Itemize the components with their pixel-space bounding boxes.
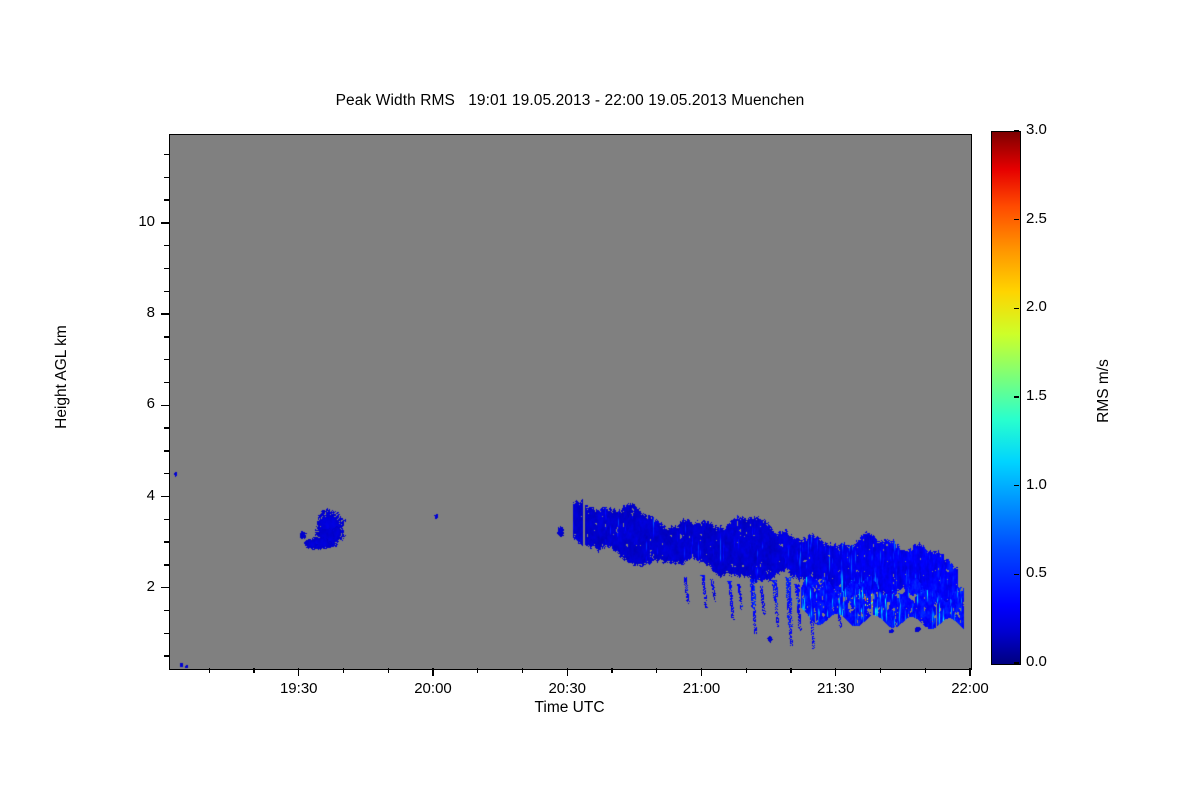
- x-tick: [209, 668, 210, 673]
- y-tick: [161, 222, 169, 223]
- x-tick: [925, 668, 926, 673]
- x-tick: [343, 668, 344, 673]
- y-tick: [164, 655, 169, 656]
- colorbar-tick: [1014, 130, 1019, 131]
- colorbar-tick-label: 2.0: [1026, 298, 1047, 315]
- x-tick: [522, 668, 523, 673]
- page-title: Peak Width RMS 19:01 19.05.2013 - 22:00 …: [0, 92, 1140, 110]
- x-tick: [746, 668, 747, 673]
- y-tick: [164, 359, 169, 360]
- x-tick: [969, 668, 970, 676]
- y-tick: [164, 473, 169, 474]
- x-tick-label: 20:00: [388, 680, 478, 697]
- colorbar-tick-label: 0.0: [1026, 653, 1047, 670]
- x-tick-label: 20:30: [522, 680, 612, 697]
- x-axis-label: Time UTC: [169, 699, 970, 717]
- x-tick: [790, 668, 791, 673]
- plot-area[interactable]: [169, 134, 972, 670]
- colorbar-tick: [1014, 662, 1019, 663]
- y-tick: [164, 177, 169, 178]
- y-tick-label: 2: [109, 578, 155, 595]
- colorbar-tick: [1014, 396, 1019, 397]
- y-tick: [164, 450, 169, 451]
- y-tick: [164, 541, 169, 542]
- y-tick: [164, 564, 169, 565]
- y-tick-label: 10: [109, 213, 155, 230]
- y-tick-label: 6: [109, 395, 155, 412]
- y-tick: [164, 382, 169, 383]
- x-tick-label: 21:30: [791, 680, 881, 697]
- y-axis-label: Height AGL km: [53, 257, 71, 497]
- y-tick: [161, 496, 169, 497]
- y-tick: [164, 268, 169, 269]
- x-tick: [432, 668, 433, 676]
- y-tick: [164, 633, 169, 634]
- x-tick-label: 19:30: [254, 680, 344, 697]
- y-tick: [161, 313, 169, 314]
- y-tick: [164, 199, 169, 200]
- radar-heatmap-image: [170, 135, 971, 669]
- x-tick: [611, 668, 612, 673]
- x-tick: [477, 668, 478, 673]
- colorbar-tick-label: 3.0: [1026, 121, 1047, 138]
- y-tick-label: 8: [109, 304, 155, 321]
- colorbar-tick: [1014, 308, 1019, 309]
- y-tick: [164, 154, 169, 155]
- x-tick: [567, 668, 568, 676]
- colorbar-tick-label: 2.5: [1026, 210, 1047, 227]
- x-tick: [388, 668, 389, 673]
- x-tick-label: 22:00: [925, 680, 1015, 697]
- y-tick-label: 4: [109, 487, 155, 504]
- colorbar-tick: [1014, 485, 1019, 486]
- y-tick: [164, 245, 169, 246]
- x-tick: [701, 668, 702, 676]
- x-tick: [253, 668, 254, 673]
- colorbar-tick: [1014, 574, 1019, 575]
- y-tick: [164, 291, 169, 292]
- figure-canvas: Peak Width RMS 19:01 19.05.2013 - 22:00 …: [0, 0, 1200, 800]
- x-tick: [656, 668, 657, 673]
- colorbar-tick-label: 1.0: [1026, 476, 1047, 493]
- y-tick: [164, 336, 169, 337]
- colorbar-tick: [1014, 219, 1019, 220]
- colorbar-tick-label: 0.5: [1026, 564, 1047, 581]
- colorbar-tick-label: 1.5: [1026, 387, 1047, 404]
- y-tick: [164, 427, 169, 428]
- y-tick: [164, 610, 169, 611]
- y-tick: [164, 519, 169, 520]
- x-tick: [835, 668, 836, 676]
- colorbar-gradient: [992, 132, 1020, 664]
- x-tick: [880, 668, 881, 673]
- colorbar[interactable]: [991, 131, 1021, 665]
- x-tick: [298, 668, 299, 676]
- x-tick-label: 21:00: [657, 680, 747, 697]
- colorbar-label: RMS m/s: [1095, 296, 1113, 486]
- y-tick: [161, 587, 169, 588]
- y-tick: [161, 405, 169, 406]
